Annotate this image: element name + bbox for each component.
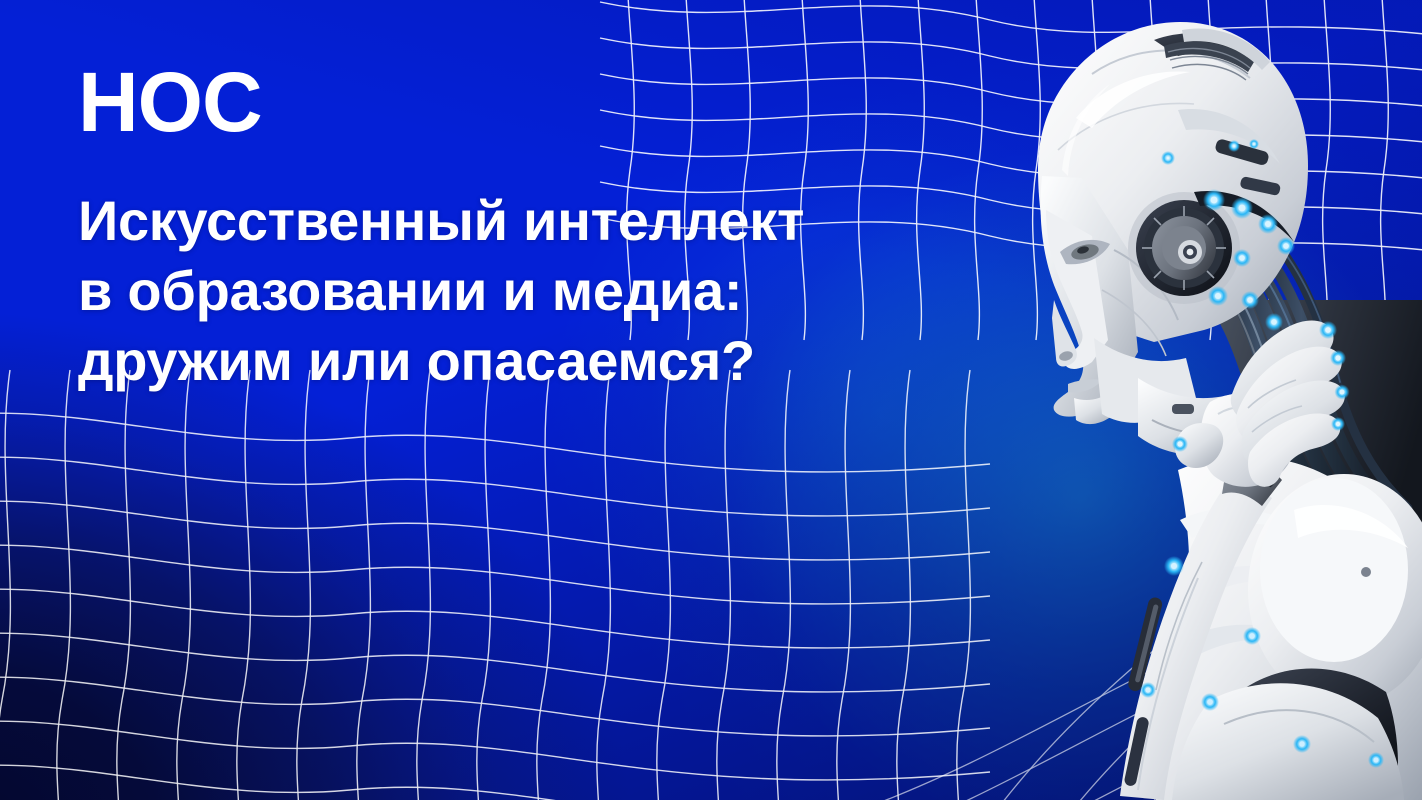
slide-content: НОС Искусственный интеллект в образовани… (78, 56, 938, 396)
page-title: Искусственный интеллект в образовании и … (78, 186, 938, 396)
page-title-line-2: в образовании и медиа: (78, 256, 938, 326)
brand-logo: НОС (78, 56, 938, 148)
presentation-slide: НОС Искусственный интеллект в образовани… (0, 0, 1422, 800)
page-title-line-1: Искусственный интеллект (78, 186, 938, 256)
robot-thinking-illustration (942, 0, 1422, 800)
page-title-line-3: дружим или опасаемся? (78, 326, 938, 396)
